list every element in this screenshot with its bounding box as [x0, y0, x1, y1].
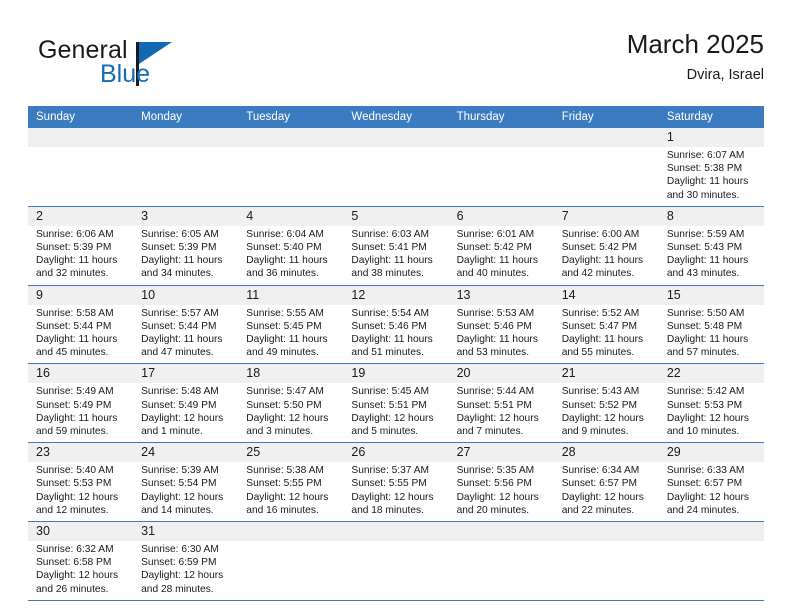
calendar-day-cell-empty: [659, 522, 764, 600]
daylight-text-line1: Daylight: 11 hours: [457, 333, 550, 346]
daylight-text-line2: and 26 minutes.: [36, 583, 129, 596]
calendar-day-cell-empty: [449, 522, 554, 600]
daylight-text-line2: and 22 minutes.: [562, 504, 655, 517]
calendar-day-cell[interactable]: 3Sunrise: 6:05 AMSunset: 5:39 PMDaylight…: [133, 207, 238, 285]
day-number: 30: [28, 522, 133, 541]
day-sun-info: Sunrise: 6:33 AMSunset: 6:57 PMDaylight:…: [659, 462, 764, 521]
day-sun-info: Sunrise: 5:58 AMSunset: 5:44 PMDaylight:…: [28, 305, 133, 364]
day-number: [449, 522, 554, 541]
sunrise-text: Sunrise: 5:35 AM: [457, 464, 550, 477]
daylight-text-line2: and 7 minutes.: [457, 425, 550, 438]
daylight-text-line1: Daylight: 12 hours: [351, 491, 444, 504]
day-number: 6: [449, 207, 554, 226]
sunrise-text: Sunrise: 5:44 AM: [457, 385, 550, 398]
day-number: 4: [238, 207, 343, 226]
daylight-text-line2: and 5 minutes.: [351, 425, 444, 438]
day-number: 12: [343, 286, 448, 305]
sunset-text: Sunset: 5:51 PM: [351, 399, 444, 412]
daylight-text-line2: and 18 minutes.: [351, 504, 444, 517]
sunset-text: Sunset: 5:49 PM: [36, 399, 129, 412]
day-number: 31: [133, 522, 238, 541]
day-number: [133, 128, 238, 147]
daylight-text-line2: and 10 minutes.: [667, 425, 760, 438]
sunset-text: Sunset: 6:58 PM: [36, 556, 129, 569]
sunset-text: Sunset: 5:53 PM: [36, 477, 129, 490]
sunset-text: Sunset: 5:55 PM: [351, 477, 444, 490]
weekday-monday: Monday: [133, 106, 238, 128]
day-number: [343, 128, 448, 147]
day-sun-info: Sunrise: 5:52 AMSunset: 5:47 PMDaylight:…: [554, 305, 659, 364]
page-title: March 2025: [627, 28, 764, 60]
calendar-day-cell-empty: [133, 128, 238, 206]
daylight-text-line1: Daylight: 12 hours: [562, 412, 655, 425]
day-number: 26: [343, 443, 448, 462]
daylight-text-line2: and 55 minutes.: [562, 346, 655, 359]
daylight-text-line1: Daylight: 12 hours: [562, 491, 655, 504]
daylight-text-line1: Daylight: 11 hours: [36, 254, 129, 267]
sunset-text: Sunset: 5:52 PM: [562, 399, 655, 412]
day-number: 25: [238, 443, 343, 462]
daylight-text-line1: Daylight: 12 hours: [457, 412, 550, 425]
daylight-text-line1: Daylight: 12 hours: [667, 412, 760, 425]
daylight-text-line2: and 24 minutes.: [667, 504, 760, 517]
sunrise-text: Sunrise: 5:50 AM: [667, 307, 760, 320]
sunrise-text: Sunrise: 5:55 AM: [246, 307, 339, 320]
sunset-text: Sunset: 5:42 PM: [457, 241, 550, 254]
calendar-day-cell-empty: [554, 522, 659, 600]
sunrise-text: Sunrise: 5:38 AM: [246, 464, 339, 477]
day-sun-info: Sunrise: 6:04 AMSunset: 5:40 PMDaylight:…: [238, 226, 343, 285]
calendar-day-cell[interactable]: 7Sunrise: 6:00 AMSunset: 5:42 PMDaylight…: [554, 207, 659, 285]
day-number: [238, 128, 343, 147]
sunrise-text: Sunrise: 5:43 AM: [562, 385, 655, 398]
calendar-day-cell-empty: [28, 128, 133, 206]
day-number: 3: [133, 207, 238, 226]
daylight-text-line2: and 51 minutes.: [351, 346, 444, 359]
daylight-text-line1: Daylight: 12 hours: [246, 412, 339, 425]
day-sun-info: Sunrise: 6:06 AMSunset: 5:39 PMDaylight:…: [28, 226, 133, 285]
day-sun-info: Sunrise: 5:55 AMSunset: 5:45 PMDaylight:…: [238, 305, 343, 364]
day-number: [554, 128, 659, 147]
calendar-week-row: 16Sunrise: 5:49 AMSunset: 5:49 PMDayligh…: [28, 364, 764, 443]
calendar-weeks: 1Sunrise: 6:07 AMSunset: 5:38 PMDaylight…: [28, 128, 764, 601]
daylight-text-line2: and 45 minutes.: [36, 346, 129, 359]
sunset-text: Sunset: 6:57 PM: [562, 477, 655, 490]
sunrise-text: Sunrise: 6:03 AM: [351, 228, 444, 241]
calendar-day-cell[interactable]: 30Sunrise: 6:32 AMSunset: 6:58 PMDayligh…: [28, 522, 133, 600]
sunset-text: Sunset: 5:46 PM: [457, 320, 550, 333]
day-number: 14: [554, 286, 659, 305]
daylight-text-line1: Daylight: 12 hours: [667, 491, 760, 504]
daylight-text-line1: Daylight: 12 hours: [36, 569, 129, 582]
day-number: 21: [554, 364, 659, 383]
weekday-tuesday: Tuesday: [238, 106, 343, 128]
sunset-text: Sunset: 5:42 PM: [562, 241, 655, 254]
day-number: 24: [133, 443, 238, 462]
daylight-text-line2: and 49 minutes.: [246, 346, 339, 359]
day-number: [343, 522, 448, 541]
weekday-friday: Friday: [554, 106, 659, 128]
calendar-day-cell[interactable]: 19Sunrise: 5:45 AMSunset: 5:51 PMDayligh…: [343, 364, 448, 442]
daylight-text-line1: Daylight: 11 hours: [141, 254, 234, 267]
sunset-text: Sunset: 5:46 PM: [351, 320, 444, 333]
day-sun-info: Sunrise: 5:37 AMSunset: 5:55 PMDaylight:…: [343, 462, 448, 521]
calendar-day-cell-empty: [449, 128, 554, 206]
sunset-text: Sunset: 5:44 PM: [36, 320, 129, 333]
daylight-text-line2: and 32 minutes.: [36, 267, 129, 280]
calendar-week-row: 30Sunrise: 6:32 AMSunset: 6:58 PMDayligh…: [28, 522, 764, 601]
calendar-day-cell[interactable]: 21Sunrise: 5:43 AMSunset: 5:52 PMDayligh…: [554, 364, 659, 442]
day-sun-info: Sunrise: 6:34 AMSunset: 6:57 PMDaylight:…: [554, 462, 659, 521]
weekday-sunday: Sunday: [28, 106, 133, 128]
sunrise-text: Sunrise: 5:45 AM: [351, 385, 444, 398]
daylight-text-line2: and 43 minutes.: [667, 267, 760, 280]
calendar-day-cell[interactable]: 5Sunrise: 6:03 AMSunset: 5:41 PMDaylight…: [343, 207, 448, 285]
calendar-day-cell[interactable]: 27Sunrise: 5:35 AMSunset: 5:56 PMDayligh…: [449, 443, 554, 521]
day-number: 1: [659, 128, 764, 147]
sunset-text: Sunset: 5:38 PM: [667, 162, 760, 175]
day-sun-info: Sunrise: 5:43 AMSunset: 5:52 PMDaylight:…: [554, 383, 659, 442]
sunrise-text: Sunrise: 6:06 AM: [36, 228, 129, 241]
daylight-text-line1: Daylight: 11 hours: [351, 333, 444, 346]
day-number: 17: [133, 364, 238, 383]
day-number: 8: [659, 207, 764, 226]
sunset-text: Sunset: 5:54 PM: [141, 477, 234, 490]
day-number: 2: [28, 207, 133, 226]
sunrise-text: Sunrise: 5:48 AM: [141, 385, 234, 398]
day-number: 7: [554, 207, 659, 226]
day-sun-info: Sunrise: 6:05 AMSunset: 5:39 PMDaylight:…: [133, 226, 238, 285]
daylight-text-line2: and 9 minutes.: [562, 425, 655, 438]
day-number: [238, 522, 343, 541]
day-sun-info: Sunrise: 5:44 AMSunset: 5:51 PMDaylight:…: [449, 383, 554, 442]
day-sun-info: Sunrise: 5:54 AMSunset: 5:46 PMDaylight:…: [343, 305, 448, 364]
calendar-day-cell[interactable]: 25Sunrise: 5:38 AMSunset: 5:55 PMDayligh…: [238, 443, 343, 521]
day-number: 22: [659, 364, 764, 383]
day-number: 16: [28, 364, 133, 383]
daylight-text-line2: and 47 minutes.: [141, 346, 234, 359]
sunset-text: Sunset: 5:47 PM: [562, 320, 655, 333]
calendar-day-cell-empty: [343, 522, 448, 600]
daylight-text-line1: Daylight: 11 hours: [246, 333, 339, 346]
sunrise-text: Sunrise: 5:40 AM: [36, 464, 129, 477]
calendar-page: General Blue March 2025 Dvira, Israel Su…: [0, 0, 792, 612]
day-number: 27: [449, 443, 554, 462]
calendar-day-cell[interactable]: 24Sunrise: 5:39 AMSunset: 5:54 PMDayligh…: [133, 443, 238, 521]
daylight-text-line1: Daylight: 12 hours: [141, 412, 234, 425]
calendar-grid: Sunday Monday Tuesday Wednesday Thursday…: [28, 106, 764, 601]
daylight-text-line2: and 12 minutes.: [36, 504, 129, 517]
day-sun-info: Sunrise: 6:07 AMSunset: 5:38 PMDaylight:…: [659, 147, 764, 206]
day-number: 13: [449, 286, 554, 305]
day-number: 9: [28, 286, 133, 305]
sunrise-text: Sunrise: 5:37 AM: [351, 464, 444, 477]
daylight-text-line1: Daylight: 11 hours: [351, 254, 444, 267]
day-sun-info: Sunrise: 5:48 AMSunset: 5:49 PMDaylight:…: [133, 383, 238, 442]
daylight-text-line2: and 28 minutes.: [141, 583, 234, 596]
sunset-text: Sunset: 5:48 PM: [667, 320, 760, 333]
calendar-day-cell[interactable]: 13Sunrise: 5:53 AMSunset: 5:46 PMDayligh…: [449, 286, 554, 364]
calendar-week-row: 9Sunrise: 5:58 AMSunset: 5:44 PMDaylight…: [28, 286, 764, 365]
day-sun-info: Sunrise: 5:50 AMSunset: 5:48 PMDaylight:…: [659, 305, 764, 364]
day-number: 5: [343, 207, 448, 226]
day-number: [659, 522, 764, 541]
day-number: [554, 522, 659, 541]
day-number: 15: [659, 286, 764, 305]
daylight-text-line1: Daylight: 12 hours: [141, 491, 234, 504]
calendar-day-cell[interactable]: 18Sunrise: 5:47 AMSunset: 5:50 PMDayligh…: [238, 364, 343, 442]
calendar-week-row: 1Sunrise: 6:07 AMSunset: 5:38 PMDaylight…: [28, 128, 764, 207]
sunset-text: Sunset: 5:44 PM: [141, 320, 234, 333]
day-sun-info: Sunrise: 5:49 AMSunset: 5:49 PMDaylight:…: [28, 383, 133, 442]
daylight-text-line2: and 38 minutes.: [351, 267, 444, 280]
page-header: General Blue March 2025 Dvira, Israel: [28, 28, 764, 98]
calendar-day-cell[interactable]: 10Sunrise: 5:57 AMSunset: 5:44 PMDayligh…: [133, 286, 238, 364]
day-number: 28: [554, 443, 659, 462]
calendar-day-cell[interactable]: 26Sunrise: 5:37 AMSunset: 5:55 PMDayligh…: [343, 443, 448, 521]
calendar-day-cell[interactable]: 20Sunrise: 5:44 AMSunset: 5:51 PMDayligh…: [449, 364, 554, 442]
sunset-text: Sunset: 5:53 PM: [667, 399, 760, 412]
calendar-day-cell[interactable]: 29Sunrise: 6:33 AMSunset: 6:57 PMDayligh…: [659, 443, 764, 521]
sunrise-text: Sunrise: 5:47 AM: [246, 385, 339, 398]
daylight-text-line2: and 40 minutes.: [457, 267, 550, 280]
daylight-text-line1: Daylight: 11 hours: [667, 175, 760, 188]
daylight-text-line1: Daylight: 11 hours: [141, 333, 234, 346]
sunset-text: Sunset: 5:50 PM: [246, 399, 339, 412]
title-block: March 2025 Dvira, Israel: [627, 28, 764, 85]
sunset-text: Sunset: 5:41 PM: [351, 241, 444, 254]
calendar-day-cell[interactable]: 23Sunrise: 5:40 AMSunset: 5:53 PMDayligh…: [28, 443, 133, 521]
calendar-day-cell-empty: [238, 522, 343, 600]
sunset-text: Sunset: 5:39 PM: [141, 241, 234, 254]
sunset-text: Sunset: 5:45 PM: [246, 320, 339, 333]
calendar-day-cell[interactable]: 1Sunrise: 6:07 AMSunset: 5:38 PMDaylight…: [659, 128, 764, 206]
sunrise-text: Sunrise: 6:04 AM: [246, 228, 339, 241]
daylight-text-line1: Daylight: 12 hours: [246, 491, 339, 504]
sunrise-text: Sunrise: 5:58 AM: [36, 307, 129, 320]
daylight-text-line1: Daylight: 12 hours: [351, 412, 444, 425]
daylight-text-line1: Daylight: 11 hours: [36, 333, 129, 346]
daylight-text-line1: Daylight: 12 hours: [141, 569, 234, 582]
calendar-day-cell[interactable]: 31Sunrise: 6:30 AMSunset: 6:59 PMDayligh…: [133, 522, 238, 600]
sunset-text: Sunset: 6:57 PM: [667, 477, 760, 490]
sunset-text: Sunset: 5:39 PM: [36, 241, 129, 254]
daylight-text-line2: and 57 minutes.: [667, 346, 760, 359]
calendar-week-row: 23Sunrise: 5:40 AMSunset: 5:53 PMDayligh…: [28, 443, 764, 522]
sunrise-text: Sunrise: 6:05 AM: [141, 228, 234, 241]
day-sun-info: Sunrise: 5:47 AMSunset: 5:50 PMDaylight:…: [238, 383, 343, 442]
daylight-text-line1: Daylight: 12 hours: [36, 491, 129, 504]
sunrise-text: Sunrise: 6:33 AM: [667, 464, 760, 477]
daylight-text-line2: and 53 minutes.: [457, 346, 550, 359]
day-number: 20: [449, 364, 554, 383]
daylight-text-line2: and 20 minutes.: [457, 504, 550, 517]
day-sun-info: Sunrise: 5:59 AMSunset: 5:43 PMDaylight:…: [659, 226, 764, 285]
calendar-day-cell[interactable]: 16Sunrise: 5:49 AMSunset: 5:49 PMDayligh…: [28, 364, 133, 442]
daylight-text-line1: Daylight: 12 hours: [457, 491, 550, 504]
day-sun-info: Sunrise: 5:53 AMSunset: 5:46 PMDaylight:…: [449, 305, 554, 364]
day-number: 11: [238, 286, 343, 305]
sunrise-text: Sunrise: 6:07 AM: [667, 149, 760, 162]
daylight-text-line2: and 30 minutes.: [667, 189, 760, 202]
daylight-text-line1: Daylight: 11 hours: [562, 254, 655, 267]
day-number: 18: [238, 364, 343, 383]
daylight-text-line2: and 16 minutes.: [246, 504, 339, 517]
daylight-text-line1: Daylight: 11 hours: [667, 333, 760, 346]
calendar-day-cell[interactable]: 8Sunrise: 5:59 AMSunset: 5:43 PMDaylight…: [659, 207, 764, 285]
sunrise-text: Sunrise: 5:39 AM: [141, 464, 234, 477]
day-number: 19: [343, 364, 448, 383]
daylight-text-line1: Daylight: 11 hours: [457, 254, 550, 267]
sunset-text: Sunset: 5:56 PM: [457, 477, 550, 490]
day-sun-info: Sunrise: 5:40 AMSunset: 5:53 PMDaylight:…: [28, 462, 133, 521]
sunrise-text: Sunrise: 6:30 AM: [141, 543, 234, 556]
calendar-day-cell[interactable]: 2Sunrise: 6:06 AMSunset: 5:39 PMDaylight…: [28, 207, 133, 285]
daylight-text-line1: Daylight: 11 hours: [667, 254, 760, 267]
day-sun-info: Sunrise: 5:57 AMSunset: 5:44 PMDaylight:…: [133, 305, 238, 364]
sunrise-text: Sunrise: 6:00 AM: [562, 228, 655, 241]
day-sun-info: Sunrise: 5:42 AMSunset: 5:53 PMDaylight:…: [659, 383, 764, 442]
sunset-text: Sunset: 5:43 PM: [667, 241, 760, 254]
calendar-day-cell[interactable]: 11Sunrise: 5:55 AMSunset: 5:45 PMDayligh…: [238, 286, 343, 364]
sunrise-text: Sunrise: 6:01 AM: [457, 228, 550, 241]
sunset-text: Sunset: 6:59 PM: [141, 556, 234, 569]
day-sun-info: Sunrise: 5:35 AMSunset: 5:56 PMDaylight:…: [449, 462, 554, 521]
daylight-text-line2: and 1 minute.: [141, 425, 234, 438]
calendar-day-cell[interactable]: 17Sunrise: 5:48 AMSunset: 5:49 PMDayligh…: [133, 364, 238, 442]
day-sun-info: Sunrise: 5:38 AMSunset: 5:55 PMDaylight:…: [238, 462, 343, 521]
sunrise-text: Sunrise: 6:32 AM: [36, 543, 129, 556]
sunrise-text: Sunrise: 5:52 AM: [562, 307, 655, 320]
weekday-saturday: Saturday: [659, 106, 764, 128]
calendar-day-cell[interactable]: 14Sunrise: 5:52 AMSunset: 5:47 PMDayligh…: [554, 286, 659, 364]
day-number: [28, 128, 133, 147]
day-number: [449, 128, 554, 147]
calendar-week-row: 2Sunrise: 6:06 AMSunset: 5:39 PMDaylight…: [28, 207, 764, 286]
logo-text-blue: Blue: [100, 60, 150, 89]
sunset-text: Sunset: 5:51 PM: [457, 399, 550, 412]
day-sun-info: Sunrise: 6:00 AMSunset: 5:42 PMDaylight:…: [554, 226, 659, 285]
calendar-day-cell[interactable]: 12Sunrise: 5:54 AMSunset: 5:46 PMDayligh…: [343, 286, 448, 364]
weekday-wednesday: Wednesday: [343, 106, 448, 128]
daylight-text-line2: and 59 minutes.: [36, 425, 129, 438]
day-sun-info: Sunrise: 6:30 AMSunset: 6:59 PMDaylight:…: [133, 541, 238, 600]
page-subtitle-location: Dvira, Israel: [627, 65, 764, 85]
general-blue-logo: General Blue: [38, 36, 228, 92]
weekday-header-row: Sunday Monday Tuesday Wednesday Thursday…: [28, 106, 764, 128]
day-number: 23: [28, 443, 133, 462]
calendar-day-cell[interactable]: 15Sunrise: 5:50 AMSunset: 5:48 PMDayligh…: [659, 286, 764, 364]
sunset-text: Sunset: 5:40 PM: [246, 241, 339, 254]
day-number: 29: [659, 443, 764, 462]
calendar-day-cell[interactable]: 22Sunrise: 5:42 AMSunset: 5:53 PMDayligh…: [659, 364, 764, 442]
sunrise-text: Sunrise: 5:59 AM: [667, 228, 760, 241]
daylight-text-line2: and 42 minutes.: [562, 267, 655, 280]
day-sun-info: Sunrise: 6:01 AMSunset: 5:42 PMDaylight:…: [449, 226, 554, 285]
daylight-text-line1: Daylight: 11 hours: [36, 412, 129, 425]
calendar-day-cell-empty: [554, 128, 659, 206]
sunrise-text: Sunrise: 6:34 AM: [562, 464, 655, 477]
daylight-text-line2: and 36 minutes.: [246, 267, 339, 280]
sunrise-text: Sunrise: 5:49 AM: [36, 385, 129, 398]
calendar-day-cell[interactable]: 28Sunrise: 6:34 AMSunset: 6:57 PMDayligh…: [554, 443, 659, 521]
sunset-text: Sunset: 5:55 PM: [246, 477, 339, 490]
calendar-day-cell-empty: [343, 128, 448, 206]
calendar-day-cell[interactable]: 9Sunrise: 5:58 AMSunset: 5:44 PMDaylight…: [28, 286, 133, 364]
daylight-text-line1: Daylight: 11 hours: [562, 333, 655, 346]
daylight-text-line2: and 3 minutes.: [246, 425, 339, 438]
sunrise-text: Sunrise: 5:57 AM: [141, 307, 234, 320]
calendar-day-cell-empty: [238, 128, 343, 206]
daylight-text-line1: Daylight: 11 hours: [246, 254, 339, 267]
day-sun-info: Sunrise: 5:39 AMSunset: 5:54 PMDaylight:…: [133, 462, 238, 521]
sunrise-text: Sunrise: 5:42 AM: [667, 385, 760, 398]
daylight-text-line2: and 34 minutes.: [141, 267, 234, 280]
calendar-day-cell[interactable]: 6Sunrise: 6:01 AMSunset: 5:42 PMDaylight…: [449, 207, 554, 285]
daylight-text-line2: and 14 minutes.: [141, 504, 234, 517]
sunset-text: Sunset: 5:49 PM: [141, 399, 234, 412]
weekday-thursday: Thursday: [449, 106, 554, 128]
calendar-day-cell[interactable]: 4Sunrise: 6:04 AMSunset: 5:40 PMDaylight…: [238, 207, 343, 285]
day-sun-info: Sunrise: 6:32 AMSunset: 6:58 PMDaylight:…: [28, 541, 133, 600]
day-sun-info: Sunrise: 6:03 AMSunset: 5:41 PMDaylight:…: [343, 226, 448, 285]
day-number: 10: [133, 286, 238, 305]
sunrise-text: Sunrise: 5:54 AM: [351, 307, 444, 320]
day-sun-info: Sunrise: 5:45 AMSunset: 5:51 PMDaylight:…: [343, 383, 448, 442]
sunrise-text: Sunrise: 5:53 AM: [457, 307, 550, 320]
